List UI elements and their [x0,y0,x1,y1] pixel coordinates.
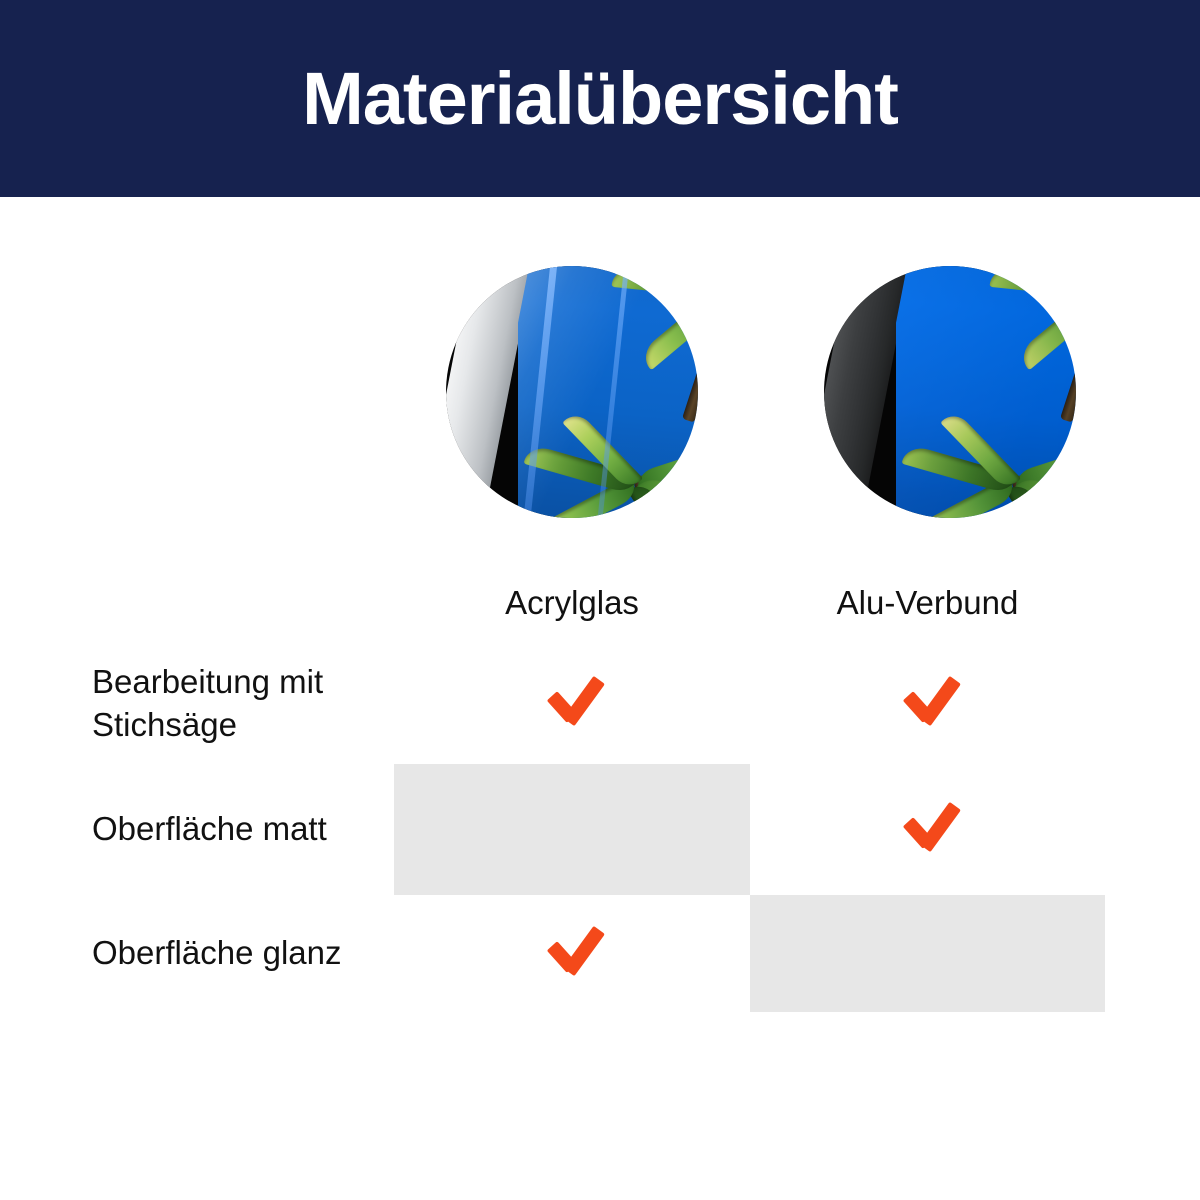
product-preview-row [0,262,1200,524]
acrylglas-panel-scene [446,266,698,518]
row-label-line-2: Stichsäge [92,706,237,743]
check-icon [544,923,600,979]
check-icon [900,673,956,729]
alu-verbund-panel-scene [824,266,1076,518]
cell-matt-alu-verbund [750,764,1105,895]
material-comparison-table: Acrylglas Alu-Verbund Bearbeitung mit St… [72,563,1105,1013]
check-icon [900,799,956,855]
page-header: Materialübersicht [0,0,1200,197]
table-row: Oberfläche glanz [72,895,1105,1012]
table-row: Bearbeitung mit Stichsäge [72,643,1105,764]
alu-verbund-preview-image[interactable] [824,266,1076,518]
column-header-acrylglas: Acrylglas [394,563,750,643]
page-title: Materialübersicht [302,62,898,136]
cell-bearbeitung-acrylglas [394,643,750,764]
table-header-spacer [72,563,394,643]
table-row: Oberfläche matt [72,764,1105,895]
row-label-oberflaeche-glanz: Oberfläche glanz [72,895,394,1012]
check-icon [544,673,600,729]
cell-matt-acrylglas [394,764,750,895]
acrylglas-preview-image[interactable] [446,266,698,518]
row-label-bearbeitung-stichsaege: Bearbeitung mit Stichsäge [72,643,394,764]
column-header-alu-verbund: Alu-Verbund [750,563,1105,643]
cell-glanz-alu-verbund [750,895,1105,1012]
table-header-row: Acrylglas Alu-Verbund [72,563,1105,643]
cell-bearbeitung-alu-verbund [750,643,1105,764]
row-label-oberflaeche-matt: Oberfläche matt [72,764,394,895]
cell-glanz-acrylglas [394,895,750,1012]
row-label-line-1: Bearbeitung mit [92,663,323,700]
